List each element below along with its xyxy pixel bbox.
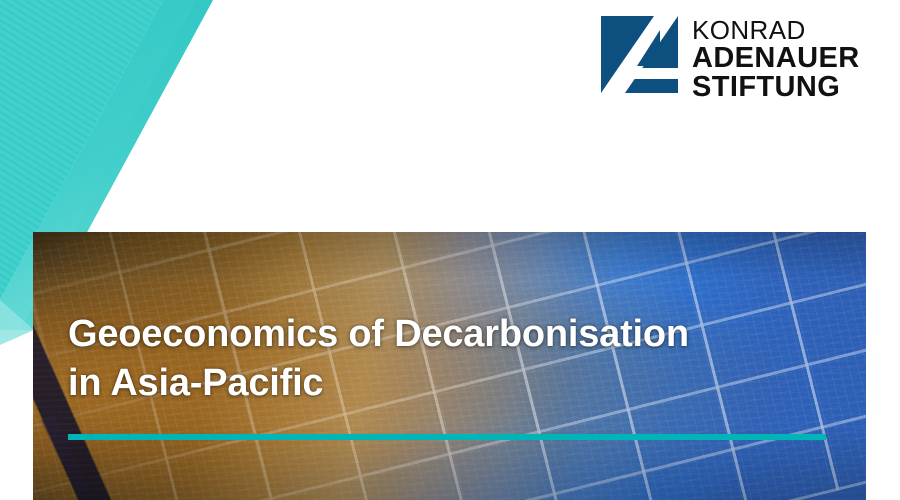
page-title-line-1: Geoeconomics of Decarbonisation [68, 310, 858, 359]
title-underline-rule [68, 434, 826, 440]
kas-monogram-icon [601, 16, 678, 93]
cover-page: KONRAD ADENAUER STIFTUNG Geoeconomics of… [0, 0, 900, 500]
hero-text-block: Geoeconomics of Decarbonisation in Asia-… [68, 310, 858, 409]
page-title-line-2: in Asia-Pacific [68, 359, 858, 408]
logo-line-konrad: KONRAD [692, 17, 860, 44]
kas-logo: KONRAD ADENAUER STIFTUNG [601, 16, 860, 103]
kas-wordmark: KONRAD ADENAUER STIFTUNG [692, 16, 860, 103]
hero-card: Geoeconomics of Decarbonisation in Asia-… [33, 232, 866, 500]
logo-line-stiftung: STIFTUNG [692, 73, 860, 103]
logo-line-adenauer: ADENAUER [692, 44, 860, 74]
page-title: Geoeconomics of Decarbonisation in Asia-… [68, 310, 858, 409]
